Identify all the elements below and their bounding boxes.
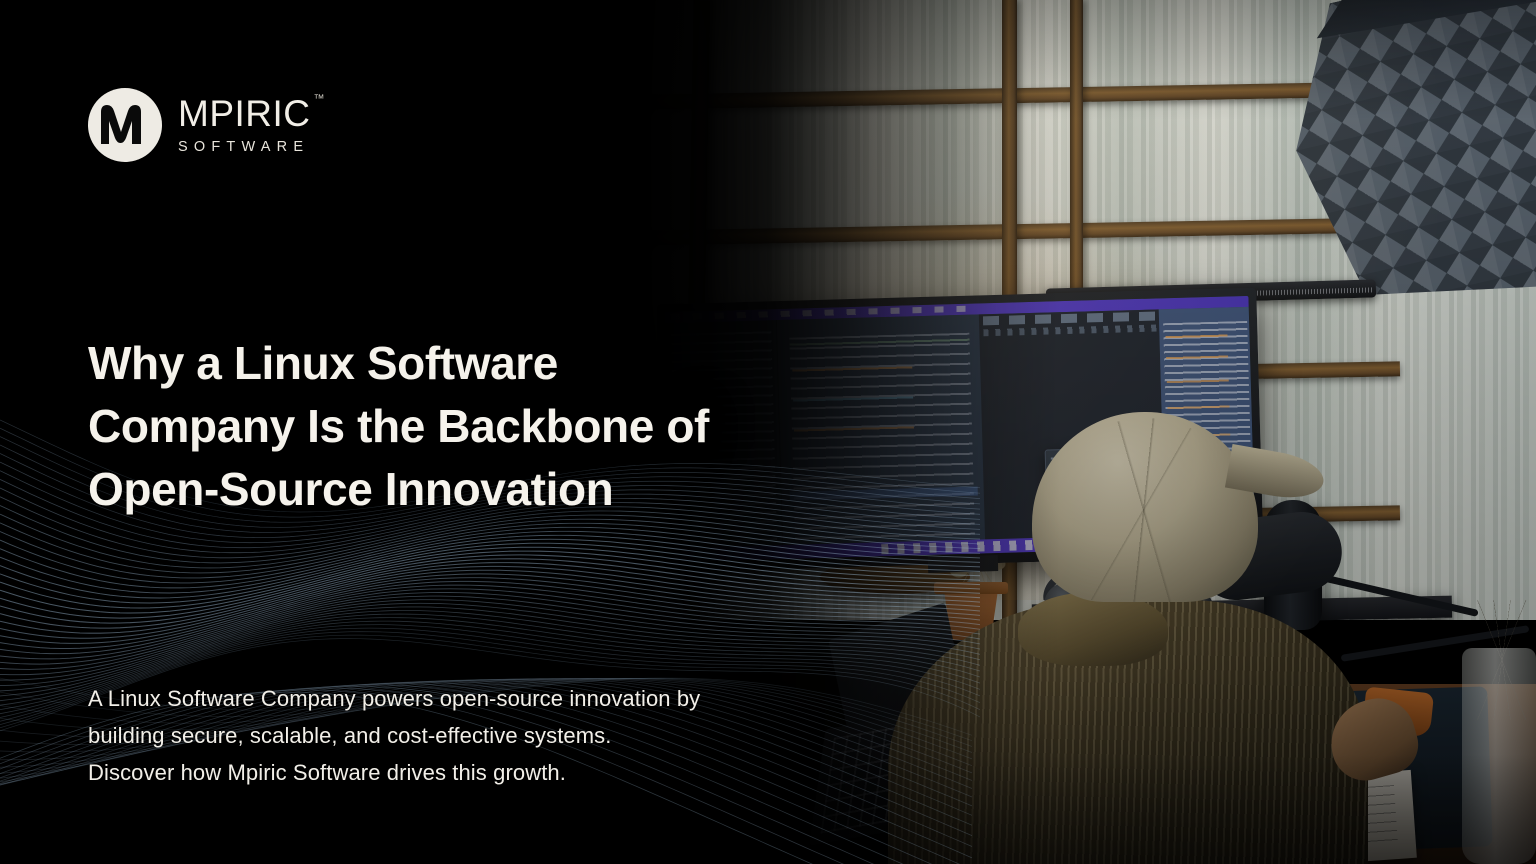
- trademark-symbol: ™: [314, 93, 325, 105]
- logo-subtitle: SOFTWARE: [178, 139, 311, 155]
- headline-line-1: Why a Linux Software: [88, 332, 788, 395]
- subcopy-line-2: building secure, scalable, and cost-effe…: [88, 717, 848, 754]
- page-subtitle: A Linux Software Company powers open-sou…: [88, 680, 848, 791]
- mpiric-software-logo[interactable]: MPIRIC ™ SOFTWARE: [88, 88, 311, 162]
- logo-wordmark: MPIRIC ™ SOFTWARE: [178, 95, 311, 155]
- subcopy-line-3: Discover how Mpiric Software drives this…: [88, 754, 848, 791]
- mpiric-m-monogram-icon: [88, 88, 162, 162]
- headline-line-3: Open-Source Innovation: [88, 458, 788, 521]
- page-title: Why a Linux Software Company Is the Back…: [88, 332, 788, 521]
- headline-line-2: Company Is the Backbone of: [88, 395, 788, 458]
- blog-hero-banner: MPIRIC ™ SOFTWARE Why a Linux Software C…: [0, 0, 1536, 864]
- logo-name: MPIRIC: [178, 95, 311, 132]
- subcopy-line-1: A Linux Software Company powers open-sou…: [88, 680, 848, 717]
